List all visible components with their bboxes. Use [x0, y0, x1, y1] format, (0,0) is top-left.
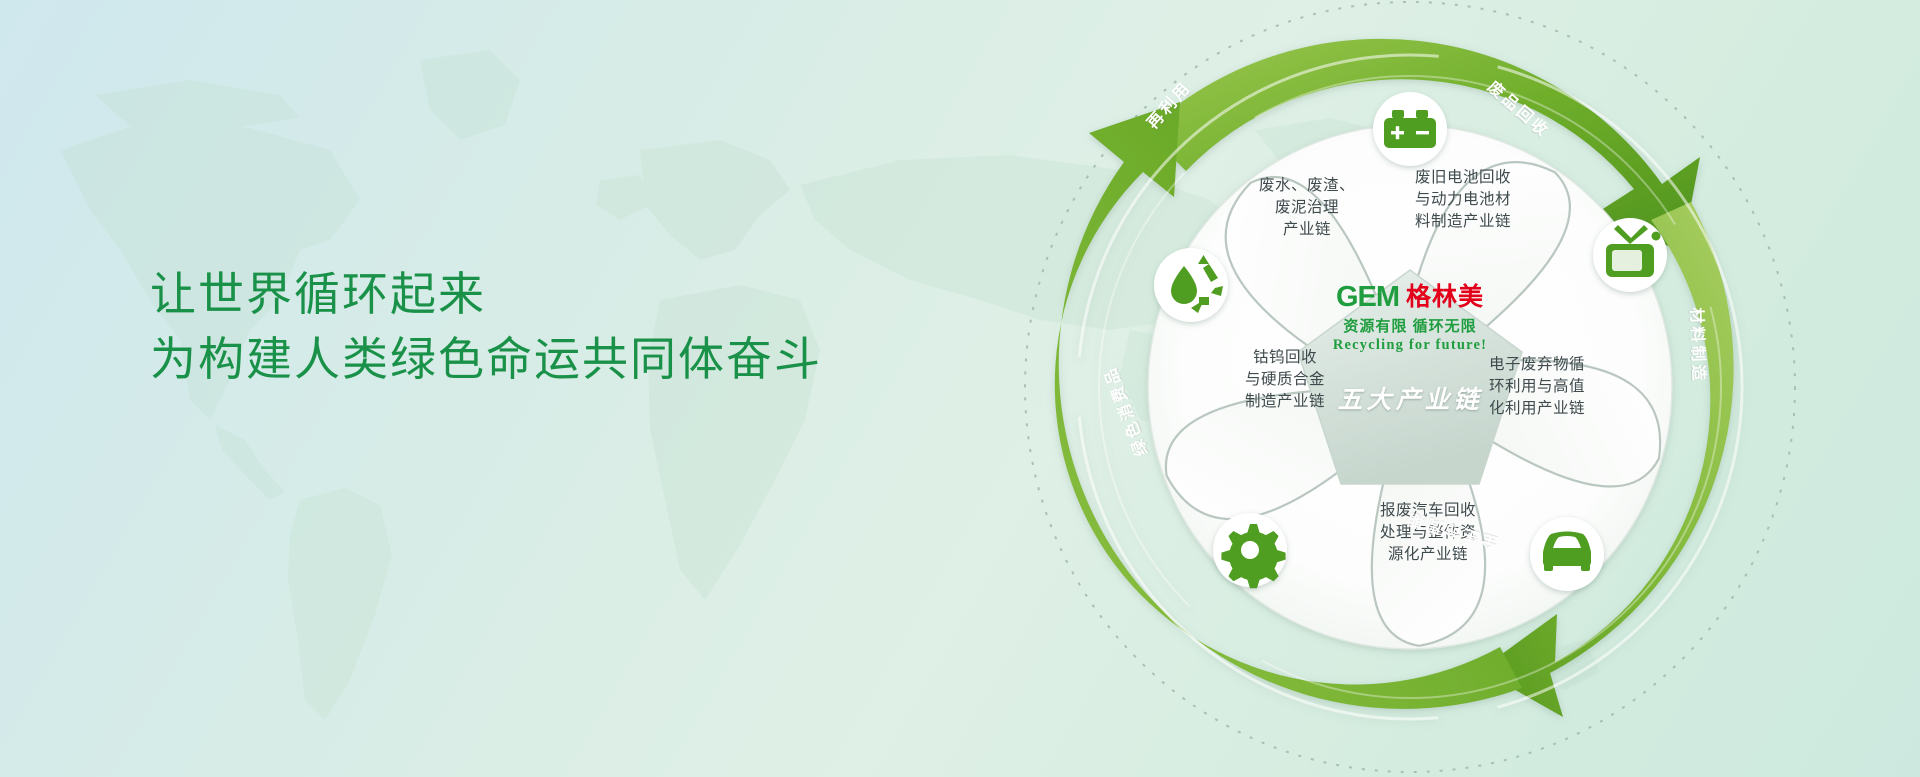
- segment-label-battery: 废旧电池回收 与动力电池材 料制造产业链: [1378, 167, 1548, 233]
- segment-label-wastewater: 废水、废渣、 废泥治理 产业链: [1222, 175, 1392, 241]
- headline-line-2: 为构建人类绿色命运共同体奋斗: [150, 327, 822, 392]
- battery-icon: [1373, 92, 1447, 166]
- headline-line-1: 让世界循环起来: [150, 262, 822, 327]
- logo-slogan-cn: 资源有限 循环无限: [1302, 315, 1518, 336]
- industry-chain-diagram: 废旧电池回收 与动力电池材 料制造产业链 电子废弃物循 环利用与高值 化利用产业…: [1010, 0, 1810, 777]
- logo-subtitle: 五大产业链: [1302, 380, 1518, 416]
- banner-root: 让世界循环起来 为构建人类绿色命运共同体奋斗: [0, 0, 1920, 777]
- logo-chinese-name: 格林美: [1406, 282, 1484, 312]
- logo-slogan-en: Recycling for future!: [1302, 337, 1518, 354]
- gem-logo-block: GEM 格林美 资源有限 循环无限 Recycling for future! …: [1302, 282, 1518, 416]
- tv-icon: [1593, 218, 1667, 292]
- logo-wordmark-row: GEM 格林美: [1302, 282, 1518, 312]
- headline-block: 让世界循环起来 为构建人类绿色命运共同体奋斗: [150, 262, 822, 392]
- gear-icon: [1213, 513, 1287, 588]
- logo-gem-text: GEM: [1336, 282, 1399, 312]
- car-icon: [1530, 517, 1604, 591]
- water-recycle-icon: [1154, 248, 1228, 322]
- ring-label-material: 材料制造: [1686, 307, 1713, 384]
